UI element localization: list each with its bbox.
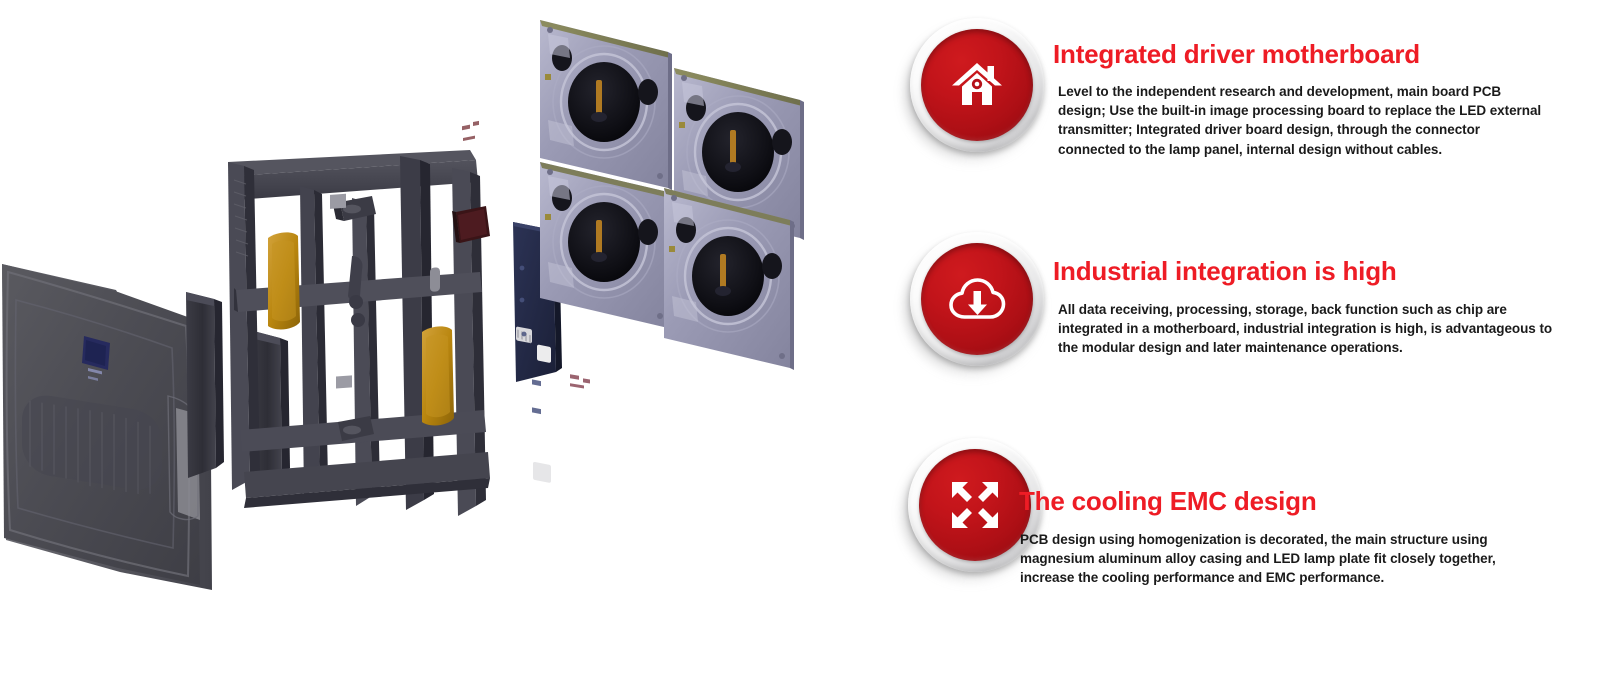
slide-canvas: Integrated driver motherboard Level to t… [0,0,1600,689]
feature-title: Industrial integration is high [1053,256,1397,287]
feature-list: Integrated driver motherboard Level to t… [860,0,1600,689]
feature-body: Level to the independent research and de… [1058,82,1550,159]
feature-badge[interactable] [900,228,1050,378]
badge-disc [921,29,1033,141]
part-back-cover [2,264,212,590]
feature-body: All data receiving, processing, storage,… [1058,300,1558,358]
cloud-download-icon [948,276,1006,322]
feature-body: PCB design using homogenization is decor… [1020,530,1510,588]
part-gold-module-bottom [422,326,454,425]
badge-disc [919,449,1031,561]
badge-disc [921,243,1033,355]
home-icon [950,60,1004,110]
part-gold-module-top [268,232,300,329]
product-exploded-view [0,0,860,689]
feature-badge[interactable] [900,14,1050,164]
feature-title: The cooling EMC design [1019,486,1317,517]
feature-title: Integrated driver motherboard [1053,39,1420,70]
expand-arrows-icon [949,479,1001,531]
part-led-panel-a [540,20,672,190]
